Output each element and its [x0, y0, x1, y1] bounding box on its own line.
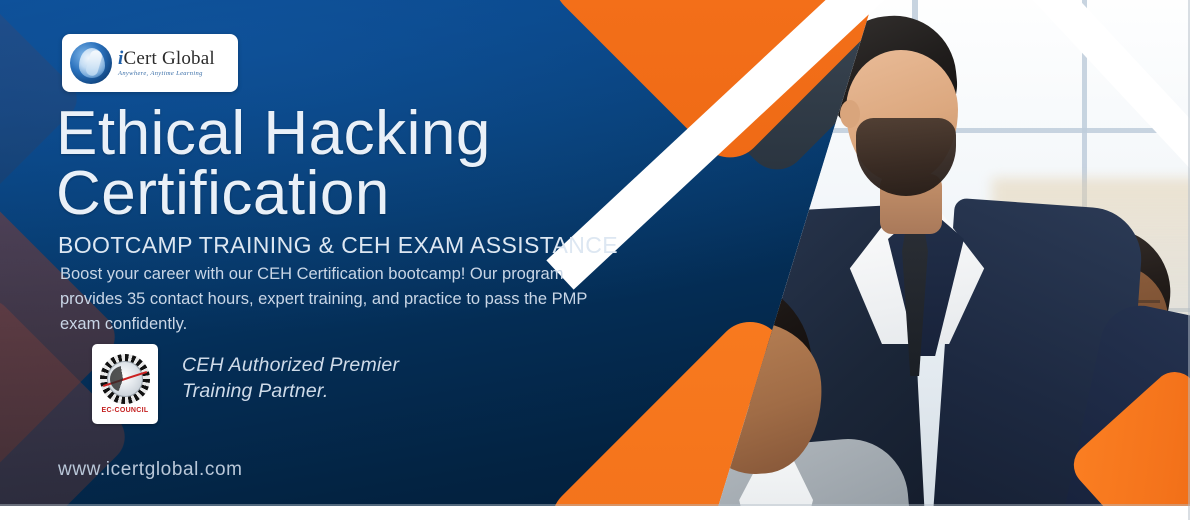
seal-slash: [103, 371, 147, 387]
ec-council-label: EC-COUNCIL: [102, 407, 149, 414]
headline-line-2: Certification: [56, 164, 676, 224]
person-center-ear: [840, 100, 860, 128]
frame-bottom: [0, 506, 1200, 520]
globe-swoosh-icon: [70, 42, 112, 84]
headline-line-1: Ethical Hacking: [56, 99, 491, 168]
brand-name: iCert Global: [118, 49, 215, 68]
brand-tagline: Anywhere, Anytime Learning: [118, 71, 215, 78]
partner-statement: CEH Authorized Premier Training Partner.: [182, 352, 399, 405]
page-title: Ethical Hacking Certification: [56, 104, 676, 223]
ec-council-badge: EC-COUNCIL: [92, 344, 158, 424]
ec-council-seal-icon: [100, 354, 150, 404]
brand-logo[interactable]: iCert Global Anywhere, Anytime Learning: [62, 34, 238, 92]
frame-right: [1190, 0, 1200, 520]
subheadline: BOOTCAMP TRAINING & CEH EXAM ASSISTANCE: [58, 232, 618, 259]
brand-name-main: Cert Global: [123, 48, 214, 69]
partner-line-2: Training Partner.: [182, 378, 399, 404]
promo-banner: iCert Global Anywhere, Anytime Learning …: [0, 0, 1200, 520]
body-copy: Boost your career with our CEH Certifica…: [60, 262, 608, 337]
partner-line-1: CEH Authorized Premier: [182, 352, 399, 378]
website-url[interactable]: www.icertglobal.com: [58, 459, 243, 481]
brand-logo-text: iCert Global Anywhere, Anytime Learning: [118, 49, 215, 78]
